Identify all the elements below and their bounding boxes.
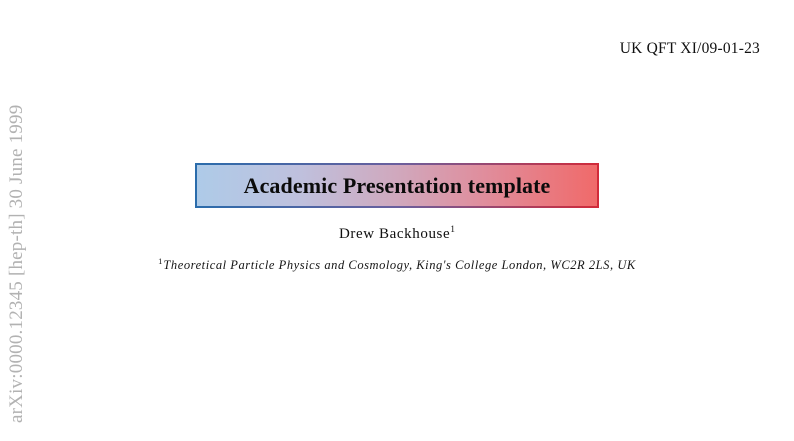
affiliation-marker: 1: [158, 256, 162, 266]
page-title: Academic Presentation template: [244, 175, 551, 197]
author-name: Drew Backhouse: [339, 226, 450, 242]
affiliation-line: 1Theoretical Particle Physics and Cosmol…: [158, 256, 636, 273]
title-block: Academic Presentation template Drew Back…: [0, 163, 794, 273]
title-box: Academic Presentation template: [195, 163, 599, 208]
author-affiliation-marker: 1: [450, 225, 455, 235]
affiliation-text: Theoretical Particle Physics and Cosmolo…: [163, 258, 635, 272]
author-line: Drew Backhouse1: [339, 225, 455, 243]
title-slide: arXiv:0000.12345 [hep-th] 30 June 1999 U…: [0, 0, 794, 441]
conference-header-note: UK QFT XI/09-01-23: [620, 40, 760, 58]
